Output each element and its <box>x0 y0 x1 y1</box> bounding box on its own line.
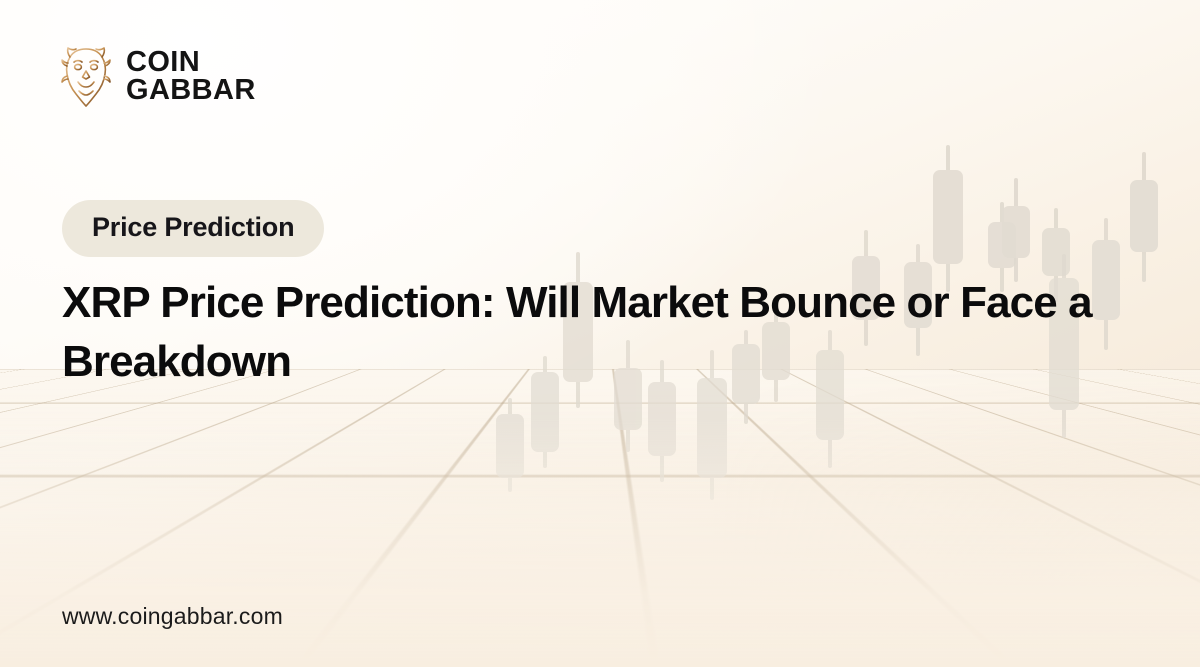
candlestick <box>933 145 963 292</box>
candlestick-wick <box>946 145 950 292</box>
candlestick-body <box>697 378 727 478</box>
candlestick-body <box>1002 206 1030 258</box>
candlestick-body <box>648 382 676 456</box>
candlestick-wick <box>508 398 512 492</box>
candlestick-body <box>933 170 963 264</box>
candlestick-body <box>496 414 524 478</box>
headline-line-1: XRP Price Prediction: Will Market Bounce… <box>62 278 949 327</box>
candlestick-wick <box>1014 178 1018 282</box>
brand-name: COIN GABBAR <box>126 49 256 105</box>
floor-right-wash <box>708 369 1200 667</box>
brand-name-line1: COIN <box>126 49 256 77</box>
brand-name-line2: GABBAR <box>126 77 256 105</box>
candlestick <box>1130 152 1158 282</box>
candlestick-wick <box>1142 152 1146 282</box>
page-title: XRP Price Prediction: Will Market Bounce… <box>62 274 1122 391</box>
category-badge: Price Prediction <box>62 200 324 257</box>
site-url[interactable]: www.coingabbar.com <box>62 603 283 630</box>
brand-logo[interactable]: COIN GABBAR <box>58 44 256 110</box>
candlestick-body <box>1130 180 1158 252</box>
candlestick-body <box>988 222 1016 268</box>
lion-head-icon <box>58 44 114 110</box>
price-prediction-banner: COIN GABBAR Price Prediction XRP Price P… <box>0 0 1200 667</box>
candlestick <box>1002 178 1030 282</box>
candlestick <box>496 398 524 492</box>
candlestick-body <box>1042 228 1070 276</box>
